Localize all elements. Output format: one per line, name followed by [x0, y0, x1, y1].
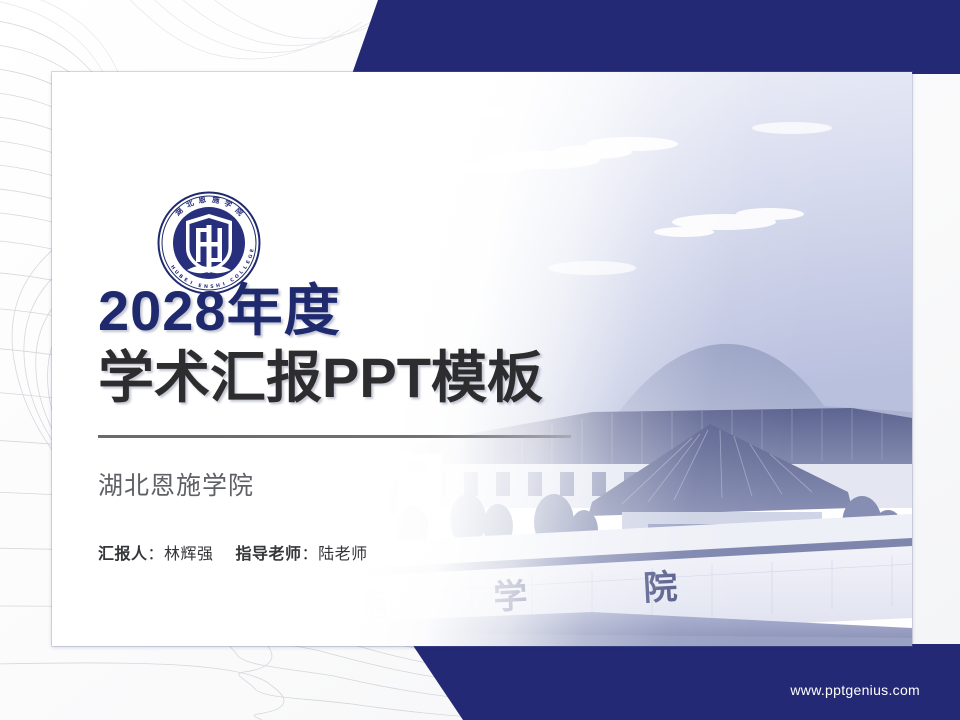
presentation-slide: 施 学 院 — [0, 0, 960, 720]
presenter-line: 汇报人：林辉强指导老师：陆老师 — [98, 540, 618, 564]
footer-website-url[interactable]: www.pptgenius.com — [790, 682, 920, 698]
title-year: 2028年度 — [98, 280, 618, 343]
advisor-colon: ： — [302, 546, 319, 563]
reporter-name: 林辉强 — [164, 546, 214, 563]
cover-card: 施 学 院 — [52, 72, 912, 646]
reporter-colon: ： — [148, 546, 165, 563]
svg-text:学: 学 — [492, 576, 528, 618]
cover-text-block: 2028年度 学术汇报PPT模板 湖北恩施学院 汇报人：林辉强指导老师：陆老师 — [98, 280, 618, 564]
school-name: 湖北恩施学院 — [98, 466, 618, 502]
title-main: 学术汇报PPT模板 — [98, 347, 618, 410]
title-divider — [98, 435, 571, 438]
advisor-name: 陆老师 — [318, 546, 368, 563]
navy-diagonal-top-banner — [0, 0, 960, 74]
reporter-label: 汇报人 — [98, 546, 148, 563]
svg-text:施: 施 — [352, 584, 388, 626]
advisor-label: 指导老师 — [236, 546, 302, 563]
svg-text:院: 院 — [642, 567, 678, 609]
